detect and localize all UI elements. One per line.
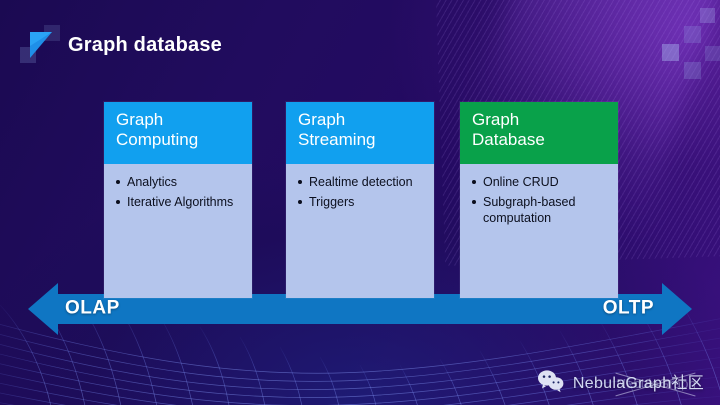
bullet-list: Online CRUD Subgraph-based computation xyxy=(470,174,610,227)
list-item: Realtime detection xyxy=(296,174,426,191)
slide-header: Graph database xyxy=(28,30,222,60)
triangle-flag-logo-icon xyxy=(28,30,54,60)
card-header: Graph Database xyxy=(460,102,618,164)
card-body: Realtime detection Triggers xyxy=(286,164,434,210)
card-title-line2: Computing xyxy=(116,130,242,150)
card-title-line1: Graph xyxy=(472,110,608,130)
card-title-line2: Database xyxy=(472,130,608,150)
card-header: Graph Streaming xyxy=(286,102,434,164)
oltp-label: OLTP xyxy=(603,298,654,320)
card-header: Graph Computing xyxy=(104,102,252,164)
card-body: Analytics Iterative Algorithms xyxy=(104,164,252,210)
card-title-line1: Graph xyxy=(116,110,242,130)
list-item: Iterative Algorithms xyxy=(114,194,244,211)
watermark: NebulaGraph社区 xyxy=(537,369,704,393)
card-group: Graph Computing Analytics Iterative Algo… xyxy=(0,0,720,405)
wechat-icon xyxy=(537,369,565,393)
bullet-list: Analytics Iterative Algorithms xyxy=(114,174,244,210)
bullet-list: Realtime detection Triggers xyxy=(296,174,426,210)
card-title-line2: Streaming xyxy=(298,130,424,150)
olap-label: OLAP xyxy=(65,298,120,320)
card-title-line1: Graph xyxy=(298,110,424,130)
card-body: Online CRUD Subgraph-based computation xyxy=(460,164,618,227)
slide-canvas: Graph database OLAP OLTP Graph Computing… xyxy=(0,0,720,405)
list-item: Subgraph-based computation xyxy=(470,194,610,227)
card-graph-computing[interactable]: Graph Computing Analytics Iterative Algo… xyxy=(104,102,252,298)
card-graph-streaming[interactable]: Graph Streaming Realtime detection Trigg… xyxy=(286,102,434,298)
card-graph-database[interactable]: Graph Database Online CRUD Subgraph-base… xyxy=(460,102,618,298)
page-title: Graph database xyxy=(68,34,222,57)
list-item: Triggers xyxy=(296,194,426,211)
list-item: Online CRUD xyxy=(470,174,610,191)
list-item: Analytics xyxy=(114,174,244,191)
watermark-text: NebulaGraph社区 xyxy=(573,369,704,393)
